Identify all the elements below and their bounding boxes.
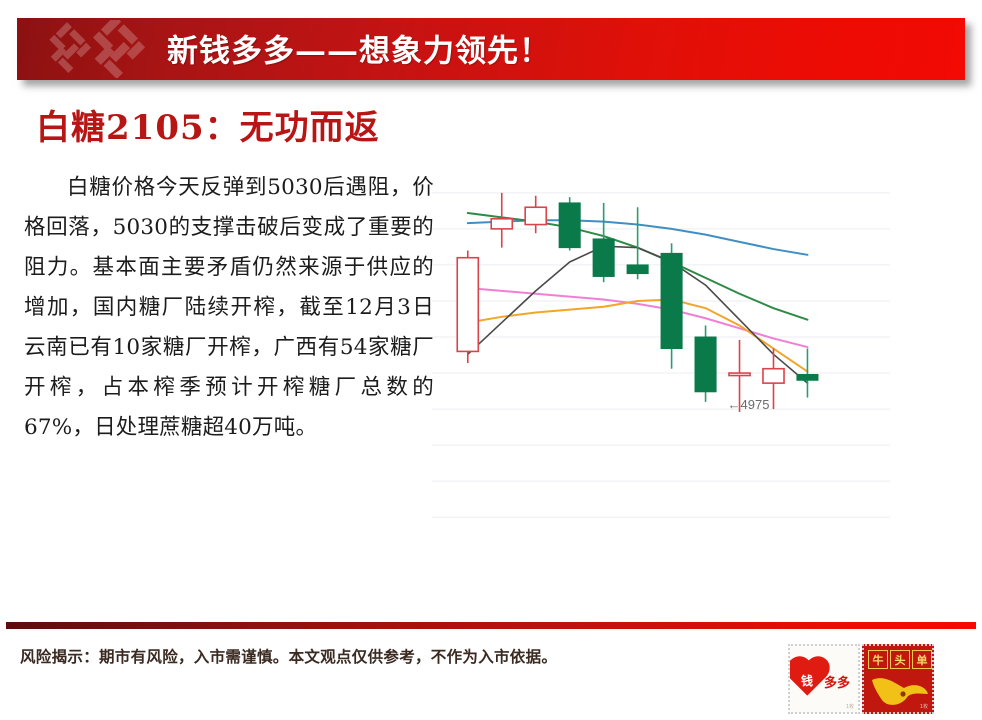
price-annotation: ←4975 xyxy=(728,397,770,412)
bull-head-icon xyxy=(870,672,930,712)
article-body: 白糖价格今天反弹到5030后遇阻，价格回落，5030的支撑击破后变成了重要的阻力… xyxy=(24,168,434,448)
stamp-char-qian: 钱 xyxy=(801,672,813,689)
stamp-char-niu: 牛 xyxy=(868,650,888,669)
banner-background: 新钱多多——想象力领先！ xyxy=(17,18,965,80)
risk-disclaimer: 风险揭示：期市有风险，入市需谨慎。本文观点仅供参考，不作为入市依据。 xyxy=(20,645,557,667)
stamp-char-tou: 头 xyxy=(890,650,910,669)
svg-text:←4975: ←4975 xyxy=(728,397,770,412)
banner-title: 新钱多多——想象力领先！ xyxy=(167,26,551,71)
qianduoduo-stamp: 钱 多多 1枚 xyxy=(788,644,860,714)
diamond-knot-logo-icon xyxy=(37,20,167,78)
page-title: 白糖2105：无功而返 xyxy=(36,100,380,149)
stamp-group: 钱 多多 1枚 牛 头 单 1枚 xyxy=(788,644,938,714)
header-banner: 新钱多多——想象力领先！ xyxy=(17,18,965,80)
niutoudan-stamp: 牛 头 单 1枚 xyxy=(862,644,934,714)
stamp-corner-label: 1枚 xyxy=(846,703,854,710)
candlestick-chart-svg: ←4975 xyxy=(432,150,892,550)
stamp-char-duoduo: 多多 xyxy=(824,672,850,691)
candlestick-series xyxy=(457,193,818,412)
stamp-char-dan: 单 xyxy=(912,650,932,669)
bull-char-row: 牛 头 单 xyxy=(868,650,932,669)
candlestick-chart: ←4975 xyxy=(432,150,892,550)
chart-gridlines xyxy=(432,193,890,550)
footer-divider xyxy=(6,622,976,629)
